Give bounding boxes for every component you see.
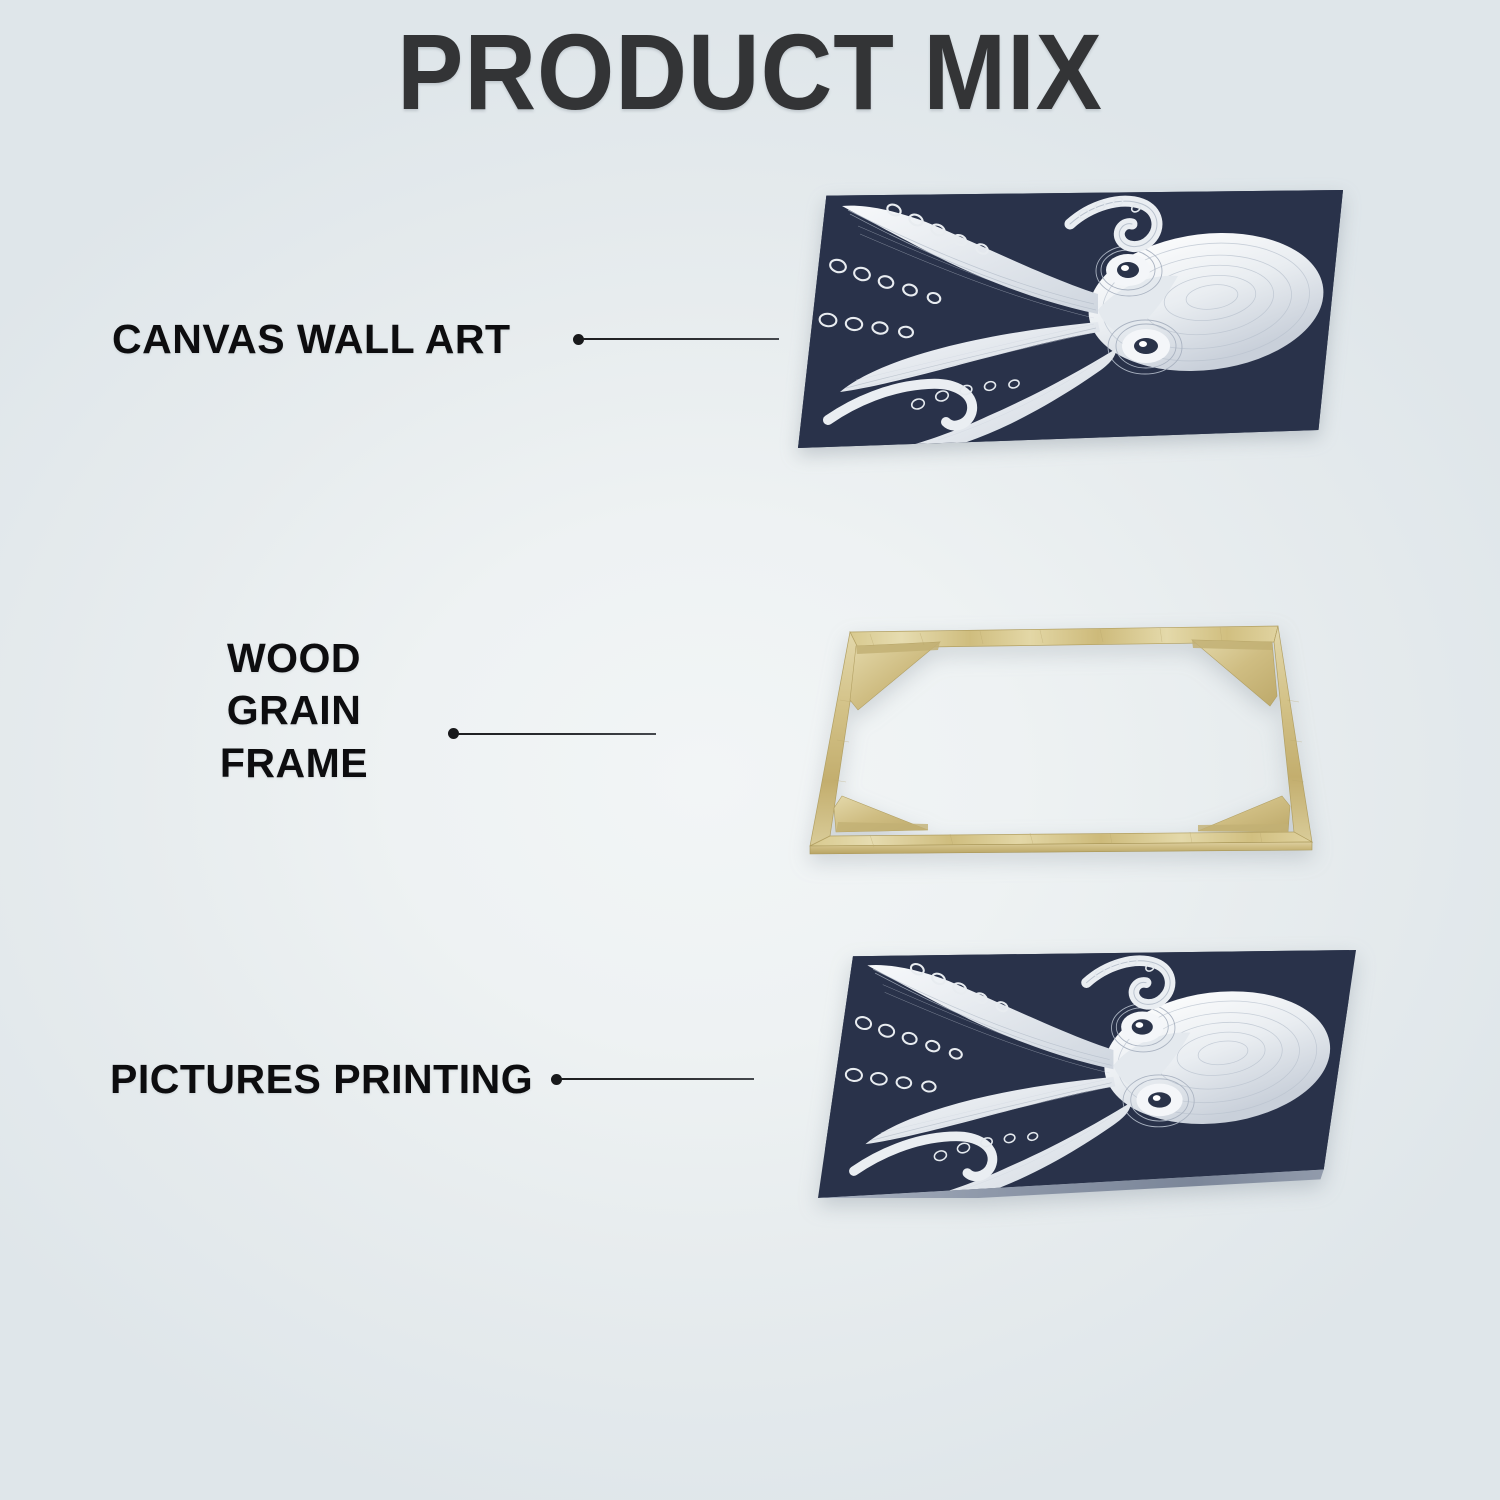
leader-line-canvas-wall-art [573, 334, 779, 345]
callout-pictures-printing: PICTURES PRINTING [110, 1053, 754, 1105]
print-artwork-surface [818, 950, 1356, 1198]
leader-stroke [458, 733, 656, 735]
pictures-printing-image [818, 950, 1356, 1198]
infographic-canvas: PRODUCT MIX [0, 0, 1500, 1500]
leader-line-pictures-printing [551, 1074, 754, 1085]
canvas-wall-art-image [798, 190, 1343, 448]
octopus-artwork-svg-print [818, 950, 1356, 1198]
leader-line-wood-grain-frame [448, 728, 656, 739]
leader-stroke [561, 1078, 754, 1080]
callout-canvas-wall-art: CANVAS WALL ART [112, 313, 779, 365]
leader-stroke [583, 338, 779, 340]
callout-label-canvas-wall-art: CANVAS WALL ART [112, 313, 511, 365]
callout-label-wood-grain-frame: WOOD GRAIN FRAME [160, 632, 428, 789]
canvas-artwork-surface [798, 190, 1343, 448]
callout-wood-grain-frame: WOOD GRAIN FRAME [160, 632, 656, 789]
wood-grain-frame-image [800, 610, 1320, 855]
callout-label-pictures-printing: PICTURES PRINTING [110, 1053, 533, 1105]
octopus-artwork-svg [798, 190, 1343, 448]
page-title: PRODUCT MIX [60, 18, 1440, 126]
wood-frame-svg [800, 610, 1320, 855]
